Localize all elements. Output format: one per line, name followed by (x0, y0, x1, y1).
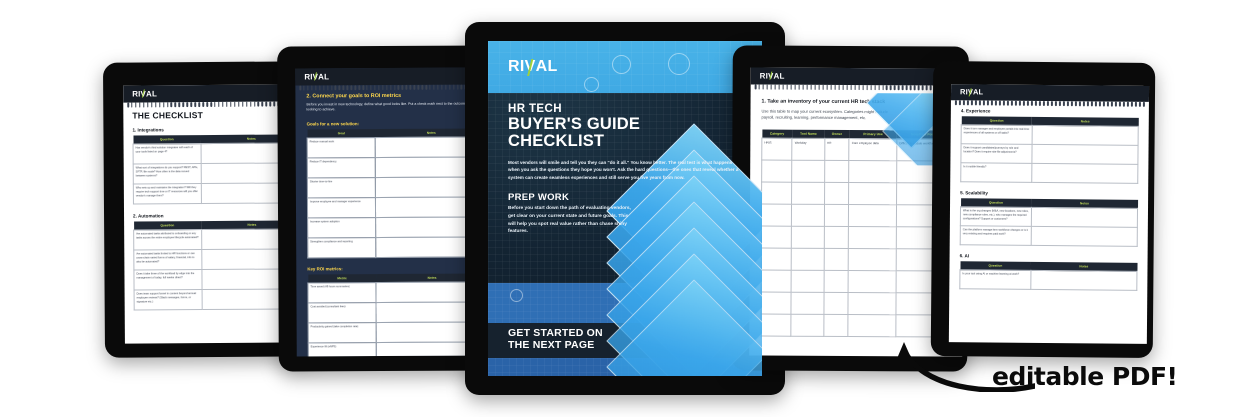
spiral-ring (1003, 101, 1005, 106)
page4-heading: 1. Take an inventory of your current HR … (762, 99, 953, 107)
table-cell[interactable] (791, 270, 823, 292)
table-row[interactable] (761, 248, 951, 271)
table-cell[interactable] (761, 204, 792, 226)
spiral-ring (963, 100, 965, 105)
spiral-ring (175, 102, 177, 107)
spiral-ring (1019, 101, 1021, 106)
spiral-ring (1075, 101, 1077, 106)
table-row[interactable]: Does it turn manager and employee portal… (961, 125, 1138, 146)
spiral-ring (1031, 101, 1033, 106)
table-cell[interactable] (761, 248, 792, 270)
spiral-ring (319, 85, 321, 90)
table-cell[interactable] (792, 226, 824, 248)
question-cell[interactable]: Can the platform manage item workforce c… (960, 226, 1031, 246)
table-cell[interactable] (824, 160, 849, 182)
document-page-experience[interactable]: RIVAL 4. ExperienceQuestionNotesDoes it … (949, 84, 1149, 344)
spiral-ring (250, 102, 252, 107)
question-cell[interactable]: Does team support funnel in content beyo… (134, 290, 202, 310)
spiral-ring (1011, 101, 1013, 106)
table-header-cell: Tool Name (792, 130, 824, 139)
table-cell[interactable] (762, 160, 793, 182)
notes-cell[interactable] (1032, 144, 1138, 164)
hr-tech-stack-table[interactable]: CategoryTool NameOwnerPrimary UseNote/Pa… (760, 130, 952, 338)
spiral-ring (1007, 101, 1009, 106)
notes-cell[interactable] (1032, 125, 1138, 145)
spiral-ring (390, 85, 392, 90)
spiral-ring (410, 85, 412, 90)
spiral-ring (366, 85, 368, 90)
table-row[interactable]: Improve employee and manager experience (307, 197, 487, 218)
cover-prep-heading: PREP WORK (508, 192, 708, 203)
table-cell[interactable]: HR (824, 138, 849, 160)
spiral-ring (270, 102, 272, 107)
spiral-ring (1087, 101, 1089, 106)
page5-sections: 4. ExperienceQuestionNotesDoes it turn m… (959, 108, 1139, 291)
spiral-ring (1015, 101, 1017, 106)
cover-lede: Most vendors will smile and tell you the… (508, 159, 744, 181)
table-header-cell: Owner (825, 130, 850, 139)
table-cell[interactable]: Core employee data (849, 139, 897, 161)
spiral-ring (437, 85, 439, 90)
blueprint-circle-icon (612, 55, 631, 74)
spiral-ring (362, 85, 364, 90)
table-cell[interactable] (792, 204, 824, 226)
spiral-ring (303, 85, 305, 90)
spiral-ring (331, 85, 333, 90)
spiral-ring (299, 85, 301, 90)
table-row[interactable]: Increase system adoption (308, 217, 488, 238)
spiral-ring (1131, 102, 1133, 107)
table-cell[interactable] (849, 183, 897, 205)
spiral-ring (171, 102, 173, 107)
spiral-ring (445, 85, 447, 90)
spiral-ring (382, 85, 384, 90)
roi-metrics-table[interactable]: MetricNotesTime saved (48 hours summarie… (307, 273, 488, 356)
page2-table1-title: Goals for a new solution: (307, 120, 488, 126)
spiral-ring (230, 102, 232, 107)
spiral-ring (143, 102, 145, 107)
spiral-ring (378, 85, 380, 90)
table-row[interactable] (761, 314, 951, 337)
table-row[interactable]: Strengthen compliance and reporting (308, 237, 488, 258)
spiral-ring (1067, 101, 1069, 106)
spiral-ring (347, 85, 349, 90)
table-cell[interactable] (792, 182, 824, 204)
spiral-ring (238, 102, 240, 107)
table-cell[interactable]: Workday (792, 138, 824, 160)
spiral-ring (258, 102, 260, 107)
table-header-cell: Goal (307, 129, 375, 138)
spiral-ring (358, 85, 360, 90)
spiral-ring (1091, 101, 1093, 106)
label-cell[interactable]: Productivity gained (take completion rat… (308, 322, 376, 342)
page2-table2-title: Key ROI metrics: (307, 265, 488, 271)
cover-prep-body: Before you start down the path of evalua… (508, 205, 633, 236)
rival-logo: RIVAL (960, 89, 983, 97)
spiral-ring (1139, 102, 1141, 107)
goals-table[interactable]: GoalNotesReduce manual workReduce IT dep… (307, 128, 489, 258)
table-cell[interactable] (791, 314, 823, 336)
question-cell[interactable]: Is it mobile friendly? (961, 163, 1032, 183)
spiral-ring (461, 85, 463, 90)
table-cell[interactable] (848, 271, 896, 293)
label-cell[interactable]: Increase system adoption (308, 217, 376, 237)
cover-cta-text: GET STARTED ONTHE NEXT PAGE (508, 328, 603, 352)
spiral-ring (441, 85, 443, 90)
spiral-ring (1047, 101, 1049, 106)
spiral-ring (991, 101, 993, 106)
question-notes-table[interactable]: QuestionNotesDoes it turn manager and em… (960, 116, 1139, 184)
table-cell[interactable] (761, 226, 792, 248)
spiral-ring (274, 102, 276, 107)
spiral-ring (242, 102, 244, 107)
table-row[interactable]: Shorter time-to-hire (307, 177, 487, 198)
table-row[interactable] (762, 160, 952, 183)
spiral-ring (417, 85, 419, 90)
notes-cell[interactable] (1032, 163, 1138, 183)
spiral-ring (398, 85, 400, 90)
spiral-ring (339, 85, 341, 90)
label-cell[interactable]: Improve employee and manager experience (307, 197, 375, 217)
spiral-ring (995, 101, 997, 106)
table-header-cell: Metric (308, 274, 376, 283)
question-cell[interactable]: Does it turn manager and employee portal… (961, 125, 1032, 145)
table-row[interactable]: Productivity gained (take completion rat… (308, 322, 488, 343)
spiral-ring (979, 100, 981, 105)
table-cell[interactable] (791, 292, 823, 314)
table-cell[interactable] (848, 293, 896, 315)
spiral-ring (1107, 102, 1109, 107)
spiral-ring (222, 102, 224, 107)
spiral-ring (1099, 101, 1101, 106)
table-header-cell: Category (762, 130, 792, 139)
label-cell[interactable]: Strengthen compliance and reporting (308, 237, 376, 257)
table-cell[interactable] (761, 314, 792, 336)
table-cell[interactable] (824, 182, 849, 204)
spiral-ring (421, 85, 423, 90)
hero-document-mockup-composition: RIVAL THE CHECKLIST 1. IntegrationsQuest… (0, 0, 1250, 417)
cover-top-band: RIVAL (488, 41, 762, 93)
spiral-ring (187, 102, 189, 107)
spiral-ring (433, 85, 435, 90)
spiral-ring (1035, 101, 1037, 106)
table-cell[interactable] (824, 314, 849, 336)
blueprint-circle-icon (584, 77, 599, 92)
spiral-ring (327, 85, 329, 90)
spiral-ring (374, 85, 376, 90)
page2-intro: Before you invest in new technology, def… (306, 101, 487, 113)
spiral-ring (1079, 101, 1081, 106)
spiral-ring (266, 102, 268, 107)
table-row[interactable]: Time saved (48 hours summaries) (308, 282, 488, 303)
table-row[interactable]: What is the org changes (M&A, new locati… (960, 207, 1137, 228)
spiral-ring (307, 85, 309, 90)
page2-heading: 2. Connect your goals to ROI metrics (306, 92, 487, 99)
label-cell[interactable]: Time saved (48 hours summaries) (308, 282, 376, 302)
spiral-ring (159, 102, 161, 107)
spiral-ring (226, 102, 228, 107)
spiral-ring (343, 85, 345, 90)
notes-cell[interactable] (1031, 207, 1137, 227)
spiral-ring (1123, 102, 1125, 107)
spiral-ring (183, 102, 185, 107)
rival-logo: RIVAL (304, 73, 329, 81)
spiral-ring (179, 102, 181, 107)
spiral-ring (135, 103, 137, 108)
document-page-cover[interactable]: RIVAL HR TECH BUYER'S GUIDE CHECKLIST Mo… (488, 41, 762, 376)
document-frame-5: RIVAL 4. ExperienceQuestionNotesDoes it … (931, 61, 1156, 358)
spiral-ring (335, 85, 337, 90)
table-cell[interactable] (761, 270, 792, 292)
spiral-ring (406, 85, 408, 90)
label-cell[interactable]: Reduce manual work (307, 137, 375, 157)
spiral-ring (1055, 101, 1057, 106)
spiral-ring (246, 102, 248, 107)
spiral-ring (394, 85, 396, 90)
spiral-ring (1083, 101, 1085, 106)
rival-logo: RIVAL (132, 90, 157, 98)
spiral-ring (323, 85, 325, 90)
cover-title: BUYER'S GUIDE CHECKLIST (508, 116, 708, 150)
spiral-ring (1143, 102, 1145, 107)
question-cell[interactable]: What sort of integrations do you support… (133, 164, 201, 184)
spiral-ring (975, 100, 977, 105)
table-row[interactable]: Is it mobile friendly? (961, 163, 1138, 184)
table-cell[interactable] (761, 292, 792, 314)
spiral-ring (449, 85, 451, 90)
table-cell[interactable] (792, 248, 824, 270)
spiral-ring (206, 102, 208, 107)
notes-cell[interactable] (1031, 270, 1137, 290)
blueprint-circle-icon (668, 53, 690, 75)
table-cell[interactable] (824, 292, 849, 314)
table-cell[interactable] (762, 182, 793, 204)
spiral-ring (167, 102, 169, 107)
cover-text-block: HR TECH BUYER'S GUIDE CHECKLIST Most ven… (508, 103, 708, 236)
table-row[interactable] (761, 226, 951, 249)
spiral-ring (1023, 101, 1025, 106)
table-row[interactable]: HRISWorkdayHRCore employee dataDifficult… (762, 138, 952, 161)
spiral-ring (425, 85, 427, 90)
spiral-ring (971, 100, 973, 105)
table-cell[interactable] (849, 161, 897, 183)
spiral-ring (983, 100, 985, 105)
section-heading: 4. Experience (961, 108, 1139, 115)
spiral-ring (1063, 101, 1065, 106)
spiral-ring (370, 85, 372, 90)
question-cell[interactable]: Has vendor's third solution integrates w… (133, 144, 201, 164)
spiral-ring (1127, 102, 1129, 107)
spiral-ring (262, 102, 264, 107)
table-cell[interactable] (848, 315, 896, 337)
spiral-ring (414, 85, 416, 90)
spiral-ring (151, 102, 153, 107)
spiral-ring (194, 102, 196, 107)
question-cell[interactable]: Are automated tasks limited to HR functi… (134, 250, 202, 270)
spiral-ring (1039, 101, 1041, 106)
rival-logo: RIVAL (760, 72, 785, 80)
spiral-ring (1051, 101, 1053, 106)
table-row[interactable]: Reduce IT dependency (307, 157, 487, 178)
spiral-ring (1119, 102, 1121, 107)
table-row[interactable]: Is your tool using AI or machine learnin… (960, 270, 1137, 291)
label-cell[interactable]: Shorter time-to-hire (307, 177, 375, 197)
spiral-ring (386, 85, 388, 90)
table-header-cell: Primary Use (849, 130, 897, 139)
table-row[interactable] (761, 270, 951, 293)
spiral-ring (402, 85, 404, 90)
spiral-ring (1095, 101, 1097, 106)
spiral-ring (457, 85, 459, 90)
table-cell[interactable] (849, 227, 897, 249)
spiral-ring (1059, 101, 1061, 106)
spiral-ring (311, 85, 313, 90)
table-cell[interactable] (849, 249, 897, 271)
table-cell[interactable] (792, 160, 824, 182)
spiral-ring (163, 102, 165, 107)
table-row[interactable] (762, 182, 952, 205)
spiral-ring (354, 85, 356, 90)
spiral-ring (139, 102, 141, 107)
section-heading: 6. AI (960, 253, 1138, 260)
spiral-ring (1111, 102, 1113, 107)
table-row[interactable]: Cost avoided (consultant fees) (308, 302, 488, 323)
spiral-ring (1115, 102, 1117, 107)
label-cell[interactable]: Cost avoided (consultant fees) (308, 302, 376, 322)
rival-logo: RIVAL (508, 59, 558, 75)
question-cell[interactable]: Are automated tasks attributed to onboar… (134, 230, 202, 250)
spiral-ring (967, 100, 969, 105)
spiral-ring (202, 102, 204, 107)
spiral-ring (218, 102, 220, 107)
spiral-ring (254, 102, 256, 107)
section-heading: 5. Scalability (960, 190, 1138, 197)
spiral-ring (987, 101, 989, 106)
spiral-ring (198, 102, 200, 107)
question-cell[interactable]: Who sets up and maintains the integratio… (133, 184, 201, 204)
spiral-ring (127, 103, 129, 108)
spiral-ring (1103, 102, 1105, 107)
table-row[interactable] (761, 204, 951, 227)
spiral-ring (351, 85, 353, 90)
spiral-ring (315, 85, 317, 90)
page4-intro: Use this table to map your current ecosy… (761, 108, 889, 121)
table-cell[interactable] (824, 248, 849, 270)
page5-header-band: RIVAL (951, 84, 1149, 102)
question-cell[interactable]: What is the org changes (M&A, new locati… (960, 207, 1031, 227)
spiral-ring (1027, 101, 1029, 106)
spiral-ring (1071, 101, 1073, 106)
spiral-ring (234, 102, 236, 107)
spiral-ring (131, 103, 133, 108)
spiral-ring (429, 85, 431, 90)
table-cell[interactable]: HRIS (762, 138, 793, 160)
spiral-ring (955, 100, 957, 105)
question-notes-table[interactable]: QuestionNotesIs your tool using AI or ma… (959, 261, 1137, 291)
page4-header-band: RIVAL (751, 67, 964, 85)
spiral-ring (155, 102, 157, 107)
table-row[interactable]: Experience lift (eNPS) (308, 342, 488, 357)
question-cell[interactable]: Does it take three of the workload by ed… (134, 270, 202, 290)
spiral-ring (214, 102, 216, 107)
table-row[interactable] (761, 292, 951, 315)
question-notes-table[interactable]: QuestionNotesWhat is the org changes (M&… (960, 198, 1138, 247)
editable-pdf-caption: editable PDF! (992, 362, 1177, 391)
table-cell[interactable] (849, 205, 897, 227)
spiral-ring (190, 102, 192, 107)
spiral-ring (210, 102, 212, 107)
spiral-ring (147, 102, 149, 107)
label-cell[interactable]: Reduce IT dependency (307, 157, 375, 177)
spiral-ring (959, 100, 961, 105)
question-cell[interactable]: Is your tool using AI or machine learnin… (960, 270, 1031, 290)
table-row[interactable]: Can the platform manage item workforce c… (960, 226, 1137, 247)
table-cell[interactable] (824, 270, 849, 292)
question-cell[interactable]: Does it support candidates/journeys by r… (961, 144, 1032, 164)
notes-cell[interactable] (1031, 226, 1137, 246)
table-cell[interactable] (824, 226, 849, 248)
table-row[interactable]: Reduce manual work (307, 137, 487, 158)
table-cell[interactable] (824, 204, 849, 226)
table-row[interactable]: Does it support candidates/journeys by r… (961, 144, 1138, 165)
spiral-ring (999, 101, 1001, 106)
cover-kicker: HR TECH (508, 103, 708, 115)
spiral-ring (1135, 102, 1137, 107)
spiral-ring (453, 85, 455, 90)
spiral-ring (1043, 101, 1045, 106)
label-cell[interactable]: Experience lift (eNPS) (308, 342, 376, 356)
